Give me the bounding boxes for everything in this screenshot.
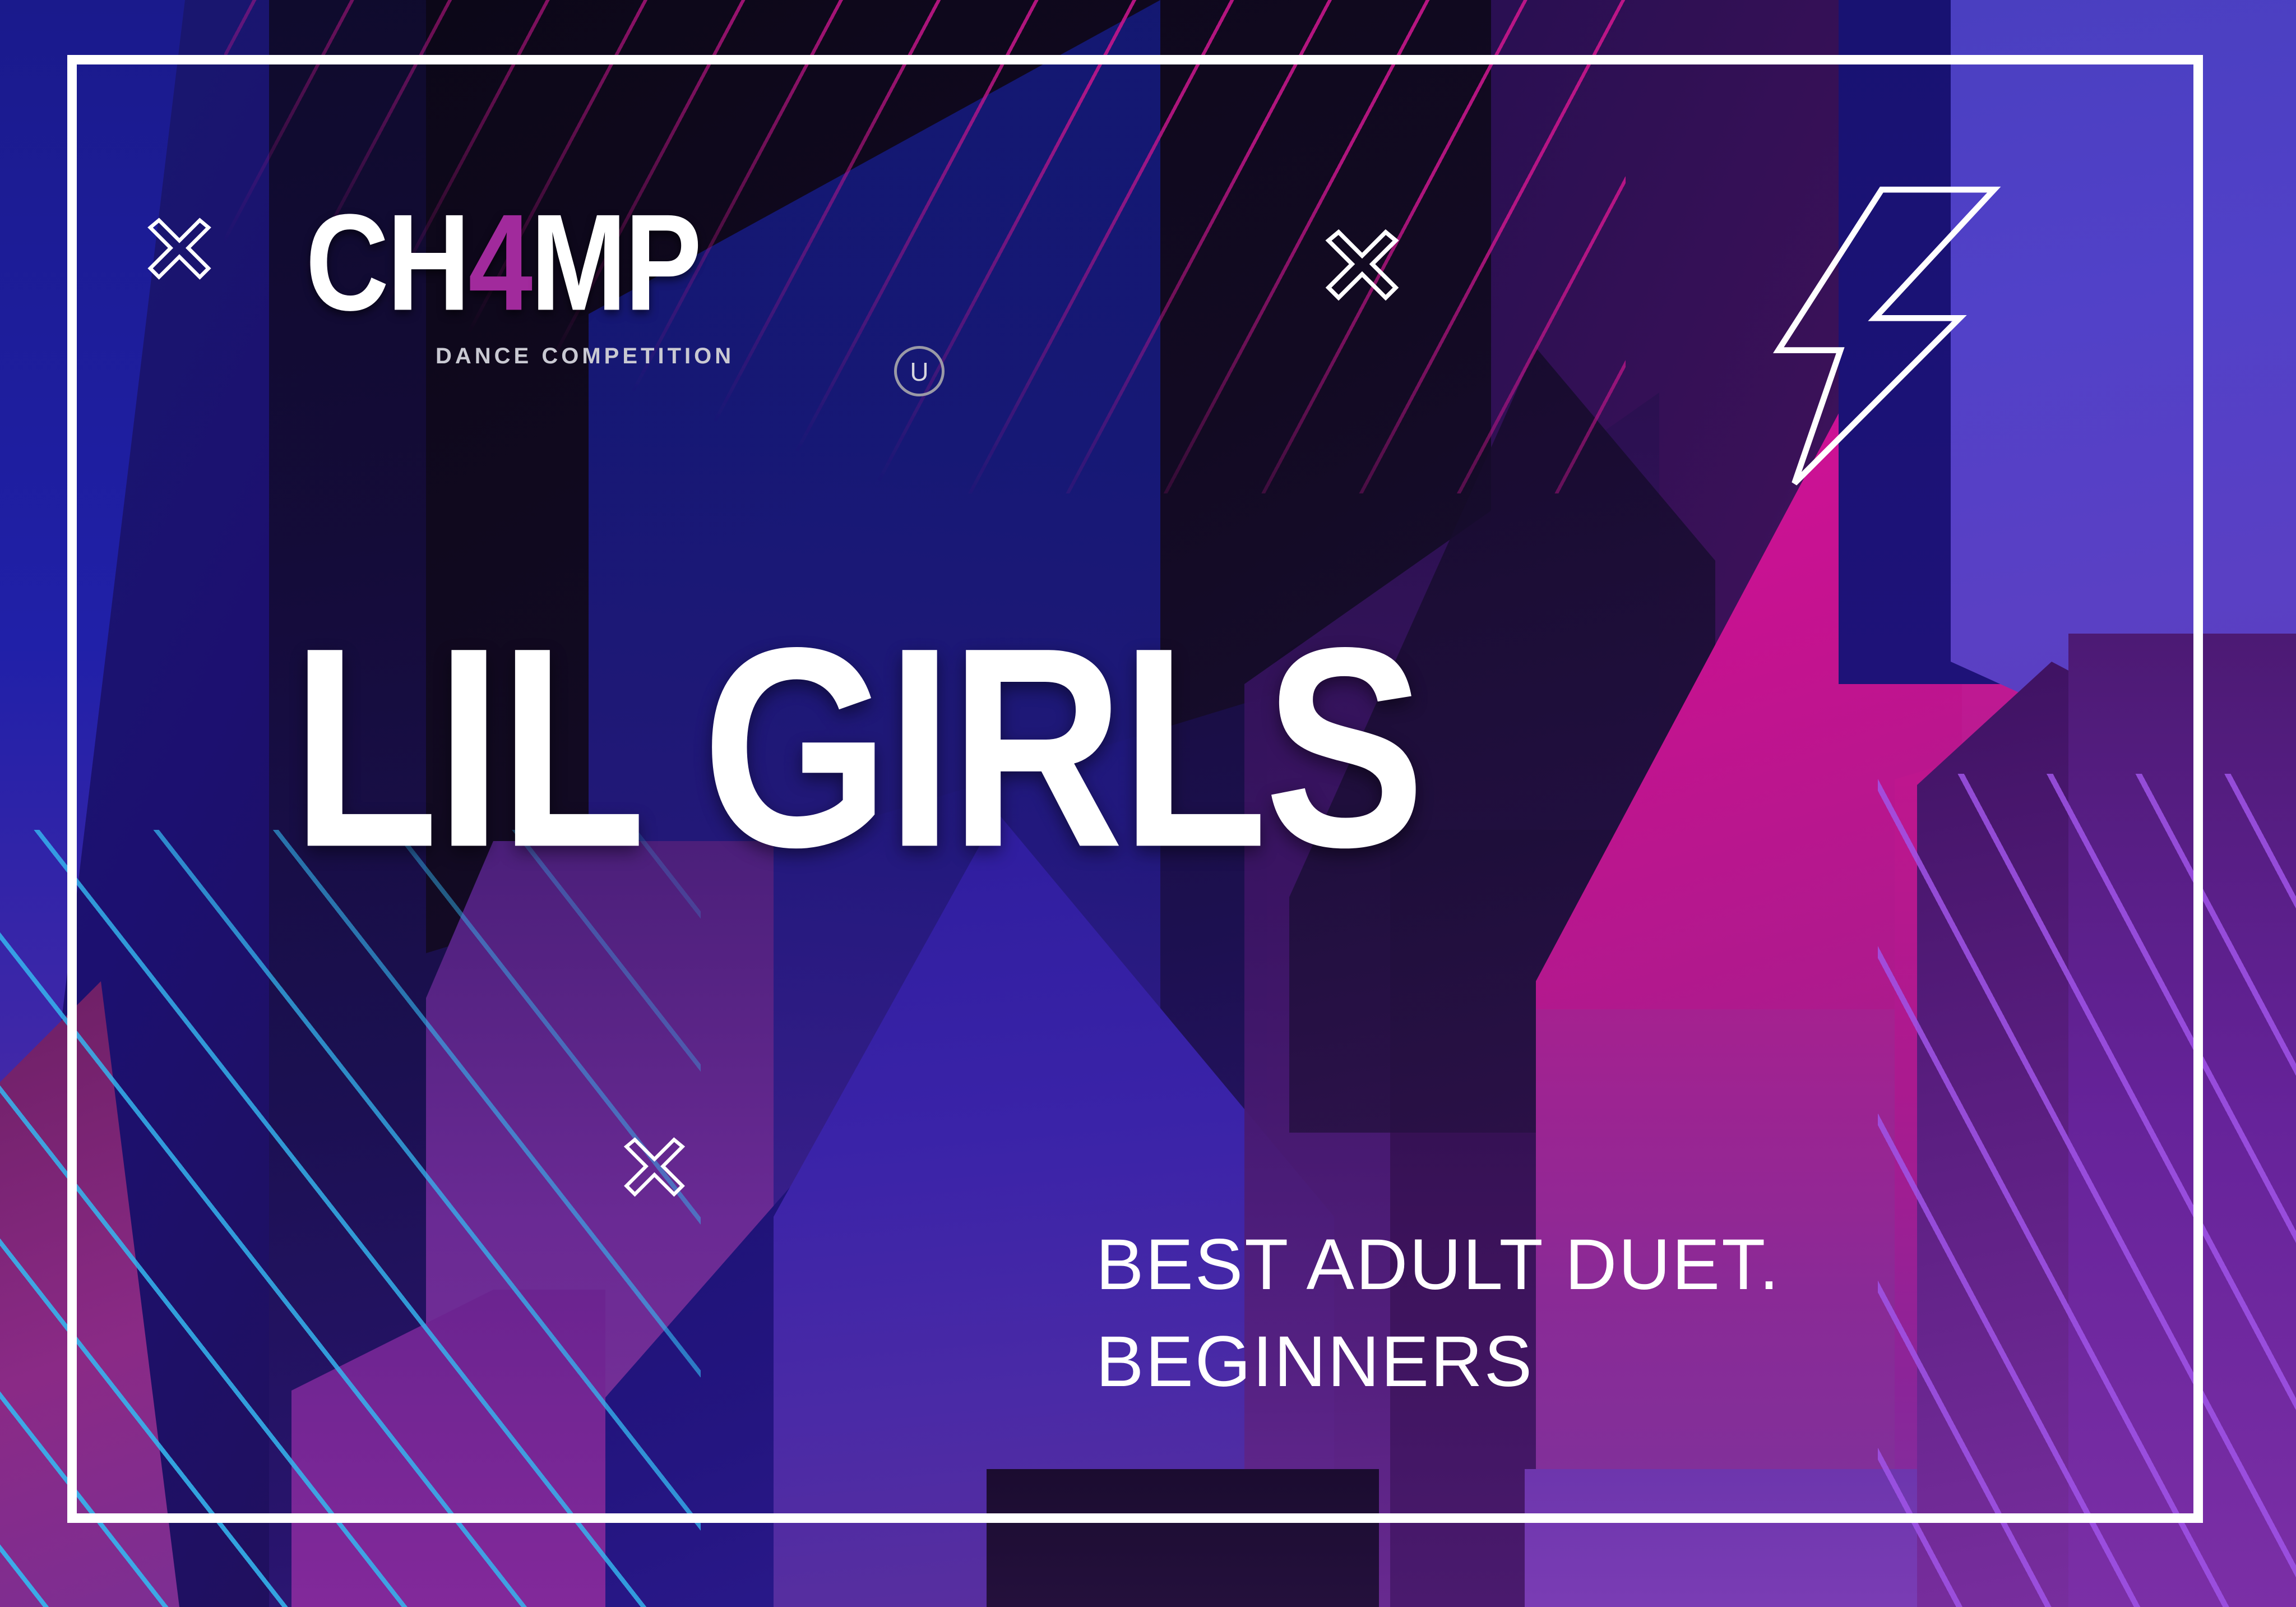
x-mark-mid-left <box>619 1135 689 1206</box>
lightning-bolt-icon <box>1771 185 2001 491</box>
x-icon <box>619 1135 689 1206</box>
category-subtitle: BEST ADULT DUET. BEGINNERS <box>1096 1217 2049 1411</box>
subtitle-line-2: BEGINNERS <box>1096 1314 2049 1411</box>
x-mark-top-left <box>143 216 216 289</box>
x-mark-top-center <box>1320 227 1404 311</box>
x-icon <box>1320 227 1404 311</box>
page-title: LIL GIRLS <box>291 606 1422 890</box>
logo-wordmark: CH4MP <box>305 193 844 331</box>
lightning-bolt-glyph <box>1771 185 2001 488</box>
poster-canvas: CH4MP DANCE COMPETITION U LIL GIRLS BEST… <box>0 0 2296 1607</box>
logo-u-badge: U <box>894 346 945 396</box>
x-icon <box>143 216 216 289</box>
logo-tagline: DANCE COMPETITION <box>436 344 734 369</box>
subtitle-line-1: BEST ADULT DUET. <box>1096 1217 2049 1314</box>
logo-word-digit: 4 <box>468 185 530 339</box>
champ-logo: CH4MP DANCE COMPETITION U <box>305 193 866 373</box>
logo-word-part1: CH <box>305 185 468 339</box>
logo-word-part2: MP <box>530 185 700 339</box>
